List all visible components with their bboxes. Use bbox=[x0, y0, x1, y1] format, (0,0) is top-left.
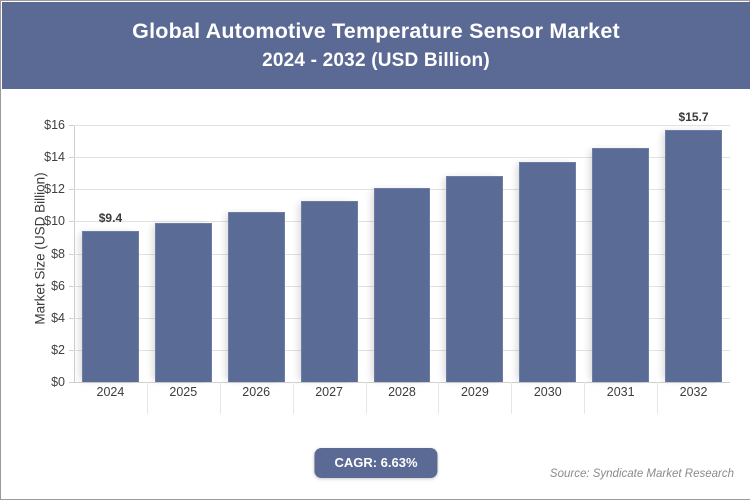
bar-slot bbox=[220, 125, 293, 382]
chart-header-banner: Global Automotive Temperature Sensor Mar… bbox=[2, 2, 750, 89]
bar-slot bbox=[438, 125, 511, 382]
x-tick-label: 2032 bbox=[657, 385, 730, 399]
bar-slot bbox=[511, 125, 584, 382]
bar[interactable] bbox=[446, 176, 503, 382]
y-tick-label: $10 bbox=[44, 214, 65, 228]
x-tick-label: 2025 bbox=[147, 385, 220, 399]
bar-value-label: $9.4 bbox=[99, 211, 122, 225]
x-tick-label: 2029 bbox=[438, 385, 511, 399]
y-tick-label: $12 bbox=[44, 182, 65, 196]
y-tick-label: $8 bbox=[51, 247, 65, 261]
gridline bbox=[74, 382, 730, 383]
x-tick-label: 2031 bbox=[584, 385, 657, 399]
bar[interactable] bbox=[228, 212, 285, 382]
bar-value-label: $15.7 bbox=[679, 110, 709, 124]
bar[interactable] bbox=[374, 188, 431, 382]
chart-title-line-2: 2024 - 2032 (USD Billion) bbox=[262, 50, 490, 72]
y-tick-label: $0 bbox=[51, 375, 65, 389]
y-tick-label: $14 bbox=[44, 150, 65, 164]
chart-body: Market Size (USD Billion) $0$2$4$6$8$10$… bbox=[2, 89, 750, 499]
bar[interactable] bbox=[82, 231, 139, 382]
cagr-badge: CAGR: 6.63% bbox=[314, 448, 437, 478]
x-tick-label: 2027 bbox=[293, 385, 366, 399]
x-tick-label: 2028 bbox=[366, 385, 439, 399]
bar[interactable] bbox=[592, 148, 649, 383]
y-tick-mark bbox=[69, 382, 74, 383]
y-tick-label: $6 bbox=[51, 279, 65, 293]
x-tick-label: 2024 bbox=[74, 385, 147, 399]
y-tick-label: $2 bbox=[51, 343, 65, 357]
bar[interactable] bbox=[301, 201, 358, 383]
bars-layer: $9.4$15.7 bbox=[74, 125, 730, 382]
bar[interactable] bbox=[519, 162, 576, 382]
bar-slot: $15.7 bbox=[657, 125, 730, 382]
bar-slot bbox=[147, 125, 220, 382]
bar[interactable] bbox=[665, 130, 722, 382]
y-tick-label: $4 bbox=[51, 311, 65, 325]
x-tick-label: 2026 bbox=[220, 385, 293, 399]
x-tick-label: 2030 bbox=[511, 385, 584, 399]
chart-title-line-1: Global Automotive Temperature Sensor Mar… bbox=[132, 19, 620, 44]
y-tick-label: $16 bbox=[44, 118, 65, 132]
bar[interactable] bbox=[155, 223, 212, 382]
chart-card: Global Automotive Temperature Sensor Mar… bbox=[0, 0, 750, 500]
bar-slot bbox=[584, 125, 657, 382]
x-axis-labels: 202420252026202720282029203020312032 bbox=[74, 385, 730, 407]
bar-slot: $9.4 bbox=[74, 125, 147, 382]
plot-area: $0$2$4$6$8$10$12$14$16 $9.4$15.7 bbox=[74, 125, 730, 382]
bar-slot bbox=[293, 125, 366, 382]
source-note: Source: Syndicate Market Research bbox=[550, 468, 734, 480]
bar-slot bbox=[366, 125, 439, 382]
